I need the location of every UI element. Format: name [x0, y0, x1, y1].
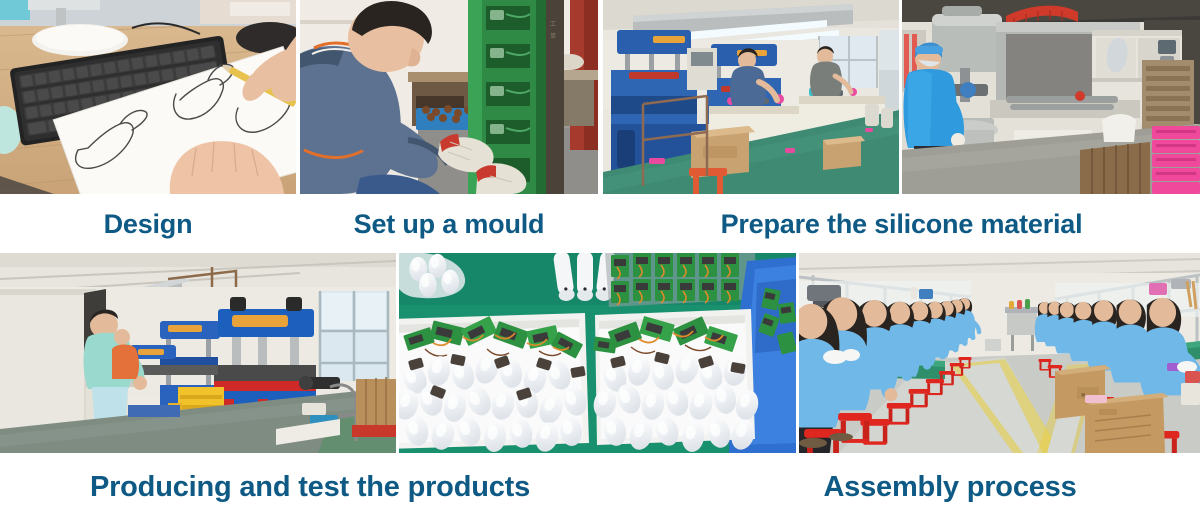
caption-design: Design [0, 196, 296, 252]
assembly-line-illustration: ■ [799, 253, 1200, 453]
photo-assembly-line: ■ [799, 253, 1200, 453]
mould-illustration: 工单 [300, 0, 598, 194]
photo-prepare-silicone-workshop [603, 0, 899, 194]
design-illustration [0, 0, 296, 194]
caption-producing-and-test-the-products-label: Producing and test the products [90, 471, 530, 504]
photo-silicone-mixing-machine [902, 0, 1200, 194]
mixing-machine-illustration [902, 0, 1200, 194]
caption-design-label: Design [104, 209, 193, 240]
svg-text:工: 工 [550, 21, 556, 28]
svg-text:单: 单 [550, 32, 556, 40]
workshop-illustration [603, 0, 899, 194]
photo-parts-and-pcb-trays [399, 253, 796, 453]
svg-text:■: ■ [1081, 392, 1085, 399]
caption-prepare-the-silicone-material-label: Prepare the silicone material [721, 209, 1083, 240]
caption-set-up-a-mould-label: Set up a mould [354, 209, 545, 240]
caption-prepare-the-silicone-material: Prepare the silicone material [603, 196, 1200, 252]
caption-assembly-process-label: Assembly process [823, 471, 1076, 504]
process-collage: 工单 [0, 0, 1200, 524]
caption-producing-and-test-the-products: Producing and test the products [0, 456, 620, 518]
parts-trays-illustration [399, 253, 796, 453]
photo-set-up-a-mould: 工单 [300, 0, 598, 194]
photo-producing-and-test [0, 253, 396, 453]
caption-assembly-process: Assembly process [700, 456, 1200, 518]
caption-set-up-a-mould: Set up a mould [300, 196, 598, 252]
photo-design [0, 0, 296, 194]
press-line-illustration [0, 253, 396, 453]
